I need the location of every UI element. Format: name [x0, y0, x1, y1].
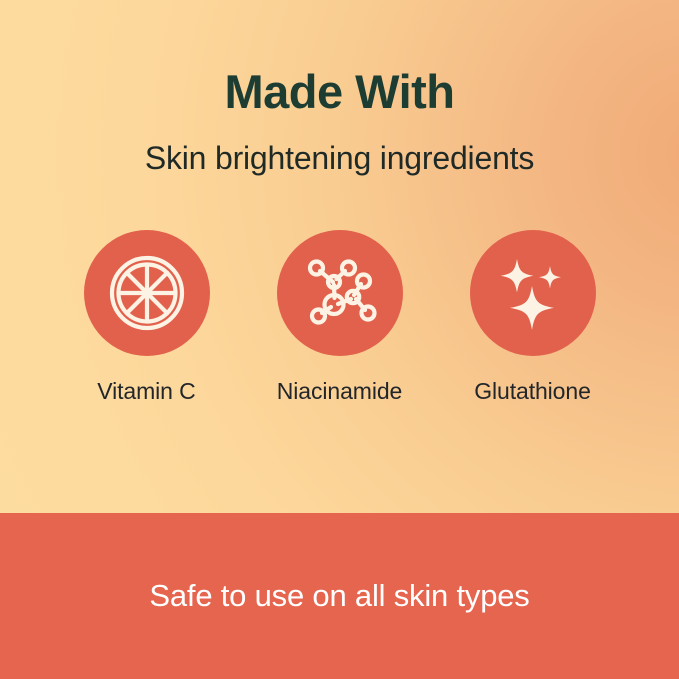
- molecule-icon: [302, 255, 378, 331]
- made-with-infographic: Made With Skin brightening ingredients: [0, 0, 679, 679]
- icon-circle-glutathione: [470, 230, 596, 356]
- ingredient-label-glutathione: Glutathione: [474, 378, 591, 405]
- page-title: Made With: [0, 66, 679, 118]
- ingredient-list: Vitamin C: [50, 230, 629, 405]
- citrus-slice-icon: [108, 254, 186, 332]
- ingredient-item-glutathione: Glutathione: [436, 230, 629, 405]
- sparkles-icon: [494, 254, 572, 332]
- top-gradient-panel: Made With Skin brightening ingredients: [0, 0, 679, 513]
- icon-circle-niacinamide: [277, 230, 403, 356]
- ingredient-item-vitamin-c: Vitamin C: [50, 230, 243, 405]
- ingredient-label-niacinamide: Niacinamide: [277, 378, 402, 405]
- icon-circle-vitamin-c: [84, 230, 210, 356]
- ingredient-label-vitamin-c: Vitamin C: [97, 378, 195, 405]
- ingredient-item-niacinamide: Niacinamide: [243, 230, 436, 405]
- banner-text: Safe to use on all skin types: [149, 578, 529, 614]
- bottom-banner: Safe to use on all skin types: [0, 513, 679, 679]
- page-subtitle: Skin brightening ingredients: [0, 139, 679, 177]
